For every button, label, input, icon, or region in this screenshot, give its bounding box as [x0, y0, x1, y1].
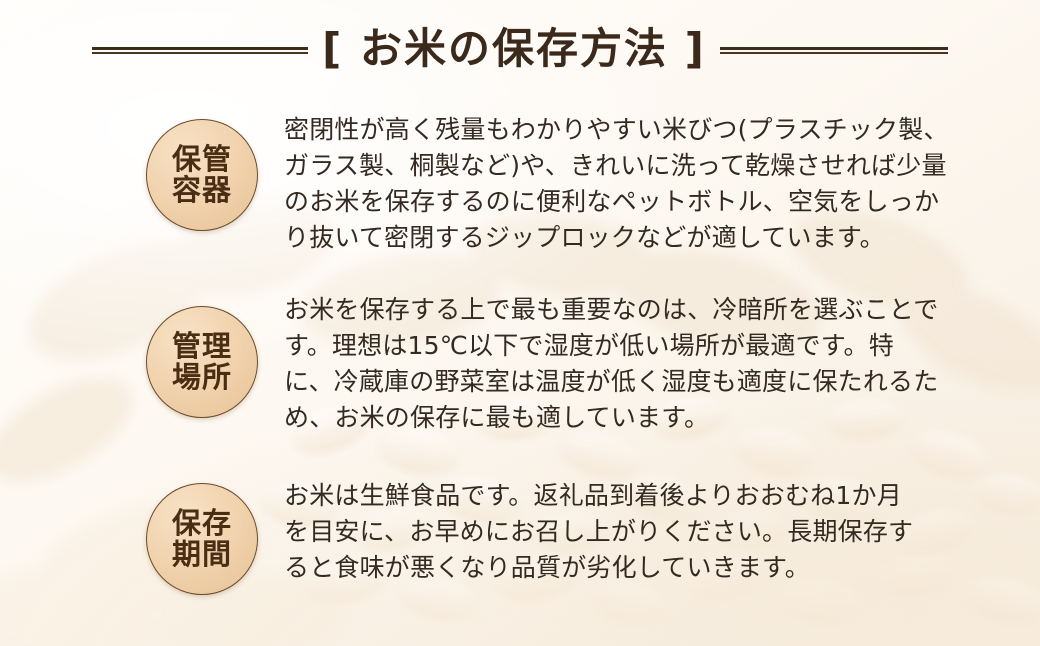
body-line: を目安に、お早めにお召し上がりください。長期保存す [284, 514, 1020, 550]
body-text-storage-container: 密閉性が高く残量もわかりやすい米びつ(プラスチック製、 ガラス製、桐製など)や、… [284, 112, 1020, 256]
badge-storage-period: 保存 期間 [146, 483, 258, 595]
badge-label-line-1: 保存 [172, 508, 232, 539]
badge-container-2: 管理 場所 [0, 292, 258, 418]
badge-container-3: 保存 期間 [0, 478, 258, 595]
body-container-3: お米は生鮮食品です。返礼品到着後よりおおむね1か月 を目安に、お早めにお召し上が… [258, 478, 1040, 586]
section-storage-container: 保管 容器 密閉性が高く残量もわかりやすい米びつ(プラスチック製、 ガラス製、桐… [0, 112, 1040, 256]
body-line: お米を保存する上で最も重要なのは、冷暗所を選ぶことで [284, 292, 1020, 328]
badge-label-line-2: 期間 [172, 539, 232, 570]
section-storage-period: 保存 期間 お米は生鮮食品です。返礼品到着後よりおおむね1か月 を目安に、お早め… [0, 478, 1040, 595]
page-title-row: [ お米の保存方法 ] [0, 14, 1040, 88]
body-line: ガラス製、桐製など)や、きれいに洗って乾燥させれば少量 [284, 148, 1020, 184]
badge-label-line-1: 管理 [172, 331, 232, 362]
body-line: 密閉性が高く残量もわかりやすい米びつ(プラスチック製、 [284, 112, 1020, 148]
infographic-page: [ お米の保存方法 ] 保管 容器 密閉性が高く残量もわかりやすい米びつ(プラス… [0, 0, 1040, 646]
page-title: [ お米の保存方法 ] [322, 28, 706, 74]
badge-container-1: 保管 容器 [0, 112, 258, 231]
section-storage-location: 管理 場所 お米を保存する上で最も重要なのは、冷暗所を選ぶことで す。理想は15… [0, 292, 1040, 436]
body-container-2: お米を保存する上で最も重要なのは、冷暗所を選ぶことで す。理想は15℃以下で湿度… [258, 292, 1040, 436]
body-line: す。理想は15℃以下で湿度が低い場所が最適です。特 [284, 328, 1020, 364]
body-container-1: 密閉性が高く残量もわかりやすい米びつ(プラスチック製、 ガラス製、桐製など)や、… [258, 112, 1040, 256]
body-text-storage-location: お米を保存する上で最も重要なのは、冷暗所を選ぶことで す。理想は15℃以下で湿度… [284, 292, 1020, 436]
badge-label-line-2: 容器 [172, 175, 232, 206]
title-rule-left [92, 47, 308, 55]
badge-label-line-1: 保管 [172, 144, 232, 175]
title-rule-right [720, 47, 948, 55]
body-line: お米は生鮮食品です。返礼品到着後よりおおむね1か月 [284, 478, 1020, 514]
badge-storage-container: 保管 容器 [146, 119, 258, 231]
body-line: め、お米の保存に最も適しています。 [284, 400, 1020, 436]
body-line: り抜いて密閉するジップロックなどが適しています。 [284, 220, 1020, 256]
badge-label-line-2: 場所 [172, 362, 232, 393]
body-text-storage-period: お米は生鮮食品です。返礼品到着後よりおおむね1か月 を目安に、お早めにお召し上が… [284, 478, 1020, 586]
body-line: のお米を保存するのに便利なペットボトル、空気をしっか [284, 184, 1020, 220]
body-line: ると食味が悪くなり品質が劣化していきます。 [284, 550, 1020, 586]
body-line: に、冷蔵庫の野菜室は温度が低く湿度も適度に保たれるた [284, 364, 1020, 400]
badge-storage-location: 管理 場所 [146, 306, 258, 418]
